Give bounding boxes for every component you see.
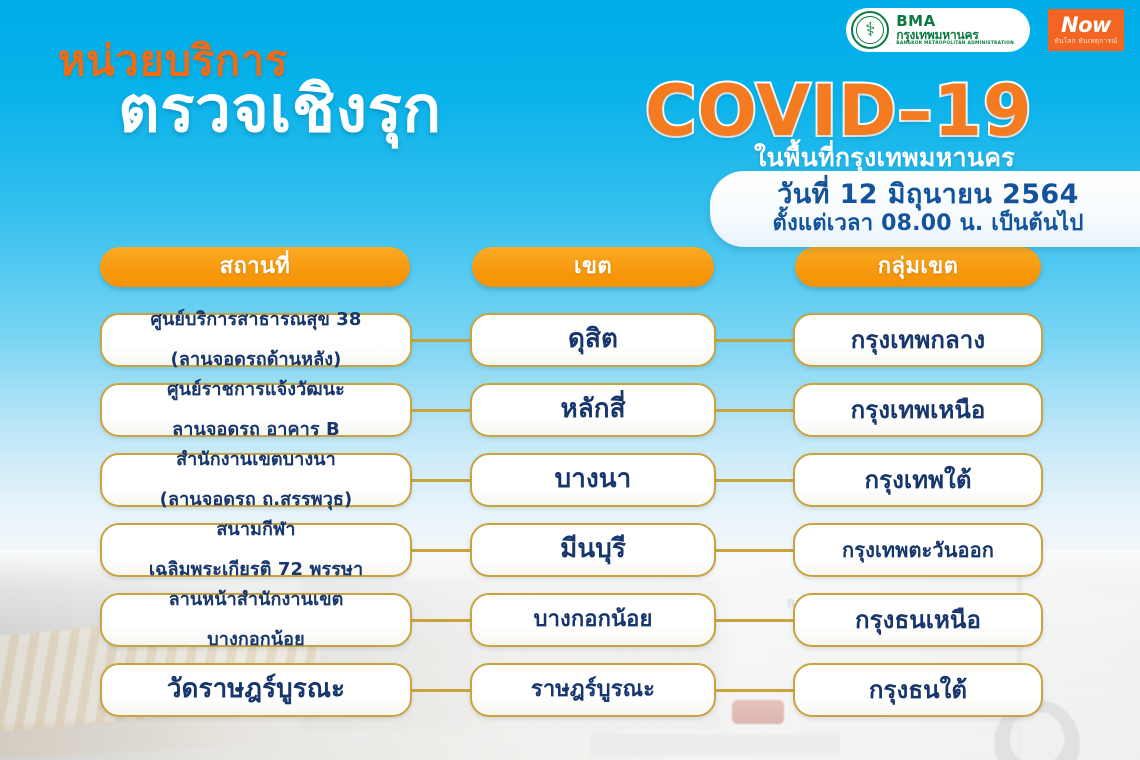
cell-district: ราษฎร์บูรณะ (470, 663, 716, 717)
table-row: วัดราษฎร์บูรณะ ราษฎร์บูรณะ กรุงธนใต้ (0, 663, 1140, 717)
cell-district: บางกอกน้อย (470, 593, 716, 647)
cell-district-group: กรุงเทพใต้ (793, 453, 1043, 507)
row-connector-right (710, 619, 799, 622)
cell-district-text: มีนบุรี (560, 535, 626, 564)
cell-district-group-text: กรุงเทพตะวันออก (842, 539, 994, 561)
cell-location: สนามกีฬา เฉลิมพระเกียรติ 72 พรรษา (100, 523, 412, 577)
row-connector-left (406, 619, 476, 622)
cell-district-group: กรุงเทพตะวันออก (793, 523, 1043, 577)
cell-location-text: วัดราษฎร์บูรณะ (167, 675, 345, 704)
cell-location-line1: สำนักงานเขตบางนา (160, 450, 353, 470)
date-text: วันที่ 12 มิถุนายน 2564 (750, 179, 1106, 211)
bma-thai-name: กรุงเทพมหานคร (896, 29, 1014, 41)
cell-location-text: ศูนย์ราชการแจ้งวัฒนะ ลานจอดรถ อาคาร B (167, 380, 345, 440)
column-header-location-label: สถานที่ (220, 256, 291, 278)
column-header-district-group: กลุ่มเขต (795, 247, 1041, 287)
cell-district-text: หลักสี่ (560, 395, 625, 424)
headline-subtitle: ในพื้นที่กรุงเทพมหานคร (754, 145, 1015, 170)
cell-district-group: กรุงเทพเหนือ (793, 383, 1043, 437)
table-row: สนามกีฬา เฉลิมพระเกียรติ 72 พรรษา มีนบุร… (0, 523, 1140, 577)
cell-location: ศูนย์ราชการแจ้งวัฒนะ ลานจอดรถ อาคาร B (100, 383, 412, 437)
headline-covid-label: COVID–19 (645, 76, 1033, 146)
column-header-district: เขต (472, 247, 714, 287)
cell-location-text: สำนักงานเขตบางนา (ลานจอดรถ ถ.สรรพวุธ) (160, 450, 353, 510)
row-connector-right (710, 689, 799, 692)
cell-district-group-text: กรุงธนเหนือ (855, 607, 981, 634)
bma-seal-icon: ⚕ (851, 11, 889, 49)
caduceus-icon: ⚕ (865, 21, 875, 40)
cell-location-line2: ลานจอดรถ อาคาร B (167, 420, 345, 440)
cell-location: ลานหน้าสำนักงานเขต บางกอกน้อย (100, 593, 412, 647)
time-text: ตั้งแต่เวลา 08.00 น. เป็นต้นไป (750, 211, 1106, 237)
cell-district-group-text: กรุงเทพใต้ (864, 467, 971, 494)
cell-district-text: บางกอกน้อย (534, 608, 653, 633)
row-connector-left (406, 689, 476, 692)
row-connector-right (710, 409, 799, 412)
cell-location-line1: ศูนย์บริการสาธารณสุข 38 (150, 310, 361, 330)
cell-district: มีนบุรี (470, 523, 716, 577)
cell-district-text: ราษฎร์บูรณะ (531, 678, 655, 703)
column-header-location: สถานที่ (100, 247, 410, 287)
table-body: ศูนย์บริการสาธารณสุข 38 (ลานจอดรถด้านหลั… (0, 313, 1140, 717)
row-connector-right (710, 479, 799, 482)
cell-location: วัดราษฎร์บูรณะ (100, 663, 412, 717)
row-connector-right (710, 549, 799, 552)
row-connector-left (406, 479, 476, 482)
now-tagline: ทันโลก ทันเหตุการณ์ (1054, 38, 1117, 45)
bma-abbreviation: BMA (896, 14, 1014, 29)
table-row: สำนักงานเขตบางนา (ลานจอดรถ ถ.สรรพวุธ) บา… (0, 453, 1140, 507)
row-connector-left (406, 409, 476, 412)
bma-wordmark: BMA กรุงเทพมหานคร BANGKOK METROPOLITAN A… (896, 14, 1014, 46)
logo-row: ⚕ BMA กรุงเทพมหานคร BANGKOK METROPOLITAN… (846, 8, 1124, 52)
cell-location-line2: เฉลิมพระเกียรติ 72 พรรษา (149, 560, 363, 580)
now-logo: Now ทันโลก ทันเหตุการณ์ (1048, 9, 1124, 51)
cell-district: บางนา (470, 453, 716, 507)
poster-canvas: BIOSA ⚕ BMA กรุงเทพมหานคร BANGKOK METROP… (0, 0, 1140, 760)
cell-district-group: กรุงเทพกลาง (793, 313, 1043, 367)
cell-location: ศูนย์บริการสาธารณสุข 38 (ลานจอดรถด้านหลั… (100, 313, 412, 367)
table-row: ศูนย์บริการสาธารณสุข 38 (ลานจอดรถด้านหลั… (0, 313, 1140, 367)
cell-district-group-text: กรุงธนใต้ (869, 677, 967, 704)
cell-location-line1: ศูนย์ราชการแจ้งวัฒนะ (167, 380, 345, 400)
bma-english-name: BANGKOK METROPOLITAN ADMINISTRATION (896, 42, 1014, 46)
cell-location-line1: ลานหน้าสำนักงานเขต (169, 590, 344, 610)
row-connector-left (406, 339, 476, 342)
row-connector-left (406, 549, 476, 552)
photo-truck-bumper (590, 734, 840, 756)
cell-district: ดุสิต (470, 313, 716, 367)
date-card: วันที่ 12 มิถุนายน 2564 ตั้งแต่เวลา 08.0… (710, 171, 1140, 247)
column-header-district-group-label: กลุ่มเขต (878, 256, 959, 278)
cell-location: สำนักงานเขตบางนา (ลานจอดรถ ถ.สรรพวุธ) (100, 453, 412, 507)
cell-district: หลักสี่ (470, 383, 716, 437)
cell-district-text: บางนา (555, 465, 632, 494)
cell-location-text: ลานหน้าสำนักงานเขต บางกอกน้อย (169, 590, 344, 650)
cell-district-group-text: กรุงเทพเหนือ (851, 397, 986, 424)
table-row: ลานหน้าสำนักงานเขต บางกอกน้อย บางกอกน้อย… (0, 593, 1140, 647)
cell-district-group: กรุงธนใต้ (793, 663, 1043, 717)
row-connector-right (710, 339, 799, 342)
cell-location-line2: (ลานจอดรถด้านหลัง) (150, 350, 361, 370)
bma-logo: ⚕ BMA กรุงเทพมหานคร BANGKOK METROPOLITAN… (846, 8, 1030, 52)
cell-district-group-text: กรุงเทพกลาง (851, 327, 985, 354)
cell-location-text: สนามกีฬา เฉลิมพระเกียรติ 72 พรรษา (149, 520, 363, 580)
cell-location-line2: บางกอกน้อย (169, 630, 344, 650)
now-wordmark: Now (1061, 15, 1111, 36)
column-header-district-label: เขต (574, 256, 612, 278)
cell-district-group: กรุงธนเหนือ (793, 593, 1043, 647)
cell-location-line2: (ลานจอดรถ ถ.สรรพวุธ) (160, 490, 353, 510)
cell-district-text: ดุสิต (568, 325, 618, 354)
headline-title: ตรวจเชิงรุก (118, 78, 442, 142)
table-header-row: สถานที่ เขต กลุ่มเขต (0, 243, 1140, 291)
cell-location-text: ศูนย์บริการสาธารณสุข 38 (ลานจอดรถด้านหลั… (150, 310, 361, 370)
table-row: ศูนย์ราชการแจ้งวัฒนะ ลานจอดรถ อาคาร B หล… (0, 383, 1140, 437)
testing-sites-table: สถานที่ เขต กลุ่มเขต ศูนย์บริการสาธารณสุ… (0, 243, 1140, 733)
cell-location-line1: สนามกีฬา (149, 520, 363, 540)
